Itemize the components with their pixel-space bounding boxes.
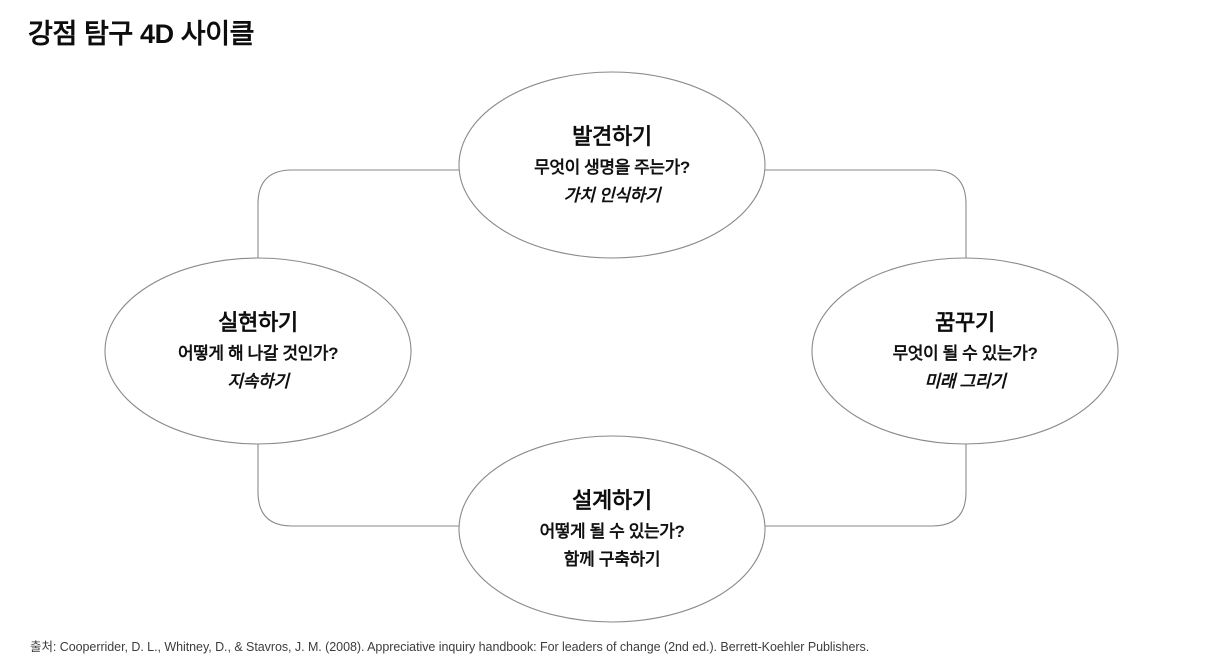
cycle-node-dream[interactable]: 꿈꾸기 무엇이 될 수 있는가? 미래 그리기 <box>812 258 1118 444</box>
source-citation: 출처: Cooperrider, D. L., Whitney, D., & S… <box>30 636 869 655</box>
node-subtitle: 지속하기 <box>227 373 288 390</box>
connector-discover-to-dream <box>765 170 966 265</box>
node-subtitle: 미래 그리기 <box>924 373 1005 390</box>
cycle-node-discover[interactable]: 발견하기 무엇이 생명을 주는가? 가치 인식하기 <box>459 72 765 258</box>
node-question: 어떻게 될 수 있는가? <box>540 523 685 540</box>
cycle-node-deliver[interactable]: 실현하기 어떻게 해 나갈 것인가? 지속하기 <box>105 258 411 444</box>
node-subtitle: 가치 인식하기 <box>564 187 660 204</box>
node-question: 어떻게 해 나갈 것인가? <box>178 345 338 362</box>
node-question: 무엇이 될 수 있는가? <box>893 345 1038 362</box>
node-title: 설계하기 <box>572 490 652 512</box>
node-title: 꿈꾸기 <box>935 312 995 334</box>
node-title: 실현하기 <box>218 312 298 334</box>
connector-deliver-to-discover <box>258 170 459 265</box>
cycle-node-design[interactable]: 설계하기 어떻게 될 수 있는가? 함께 구축하기 <box>459 436 765 622</box>
node-subtitle: 함께 구축하기 <box>564 551 660 568</box>
node-question: 무엇이 생명을 주는가? <box>534 159 690 176</box>
node-title: 발견하기 <box>572 126 652 148</box>
connector-design-to-deliver <box>258 437 459 526</box>
connector-dream-to-design <box>765 437 966 526</box>
